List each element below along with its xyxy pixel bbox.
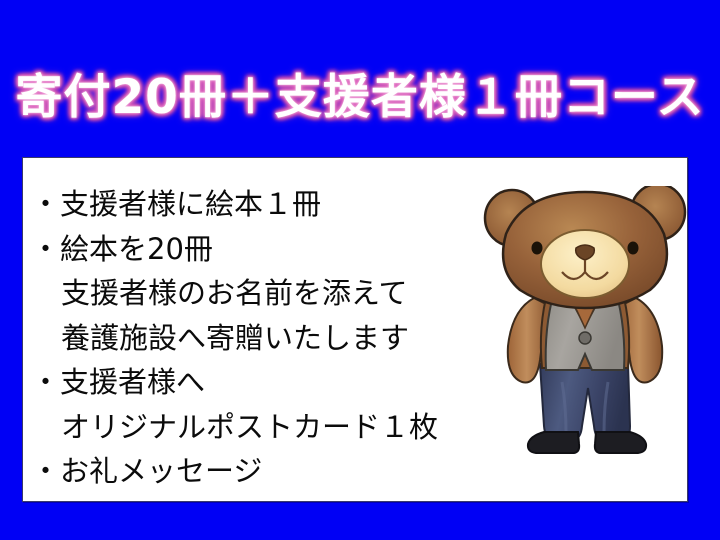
list-item: ・お礼メッセージ: [31, 449, 501, 494]
benefits-list: ・支援者様に絵本１冊 ・絵本を20冊 支援者様のお名前を添えて 養護施設へ寄贈い…: [31, 182, 501, 494]
list-item: オリジナルポストカード１枚: [31, 405, 501, 450]
teddy-bear-illustration: [478, 186, 693, 478]
bear-eye-left: [532, 242, 543, 255]
list-item: 養護施設へ寄贈いたします: [31, 316, 501, 361]
slide-canvas: 寄付20冊＋支援者様１冊コース ・支援者様に絵本１冊 ・絵本を20冊 支援者様の…: [0, 0, 720, 540]
vest-button: [579, 332, 591, 344]
list-item: 支援者様のお名前を添えて: [31, 271, 501, 316]
list-item: ・絵本を20冊: [31, 227, 501, 272]
list-item: ・支援者様に絵本１冊: [31, 182, 501, 227]
bear-eye-right: [628, 242, 639, 255]
bear-jeans: [540, 364, 630, 440]
list-item: ・支援者様へ: [31, 360, 501, 405]
content-panel: ・支援者様に絵本１冊 ・絵本を20冊 支援者様のお名前を添えて 養護施設へ寄贈い…: [22, 157, 688, 502]
page-title: 寄付20冊＋支援者様１冊コース: [0, 74, 720, 121]
bear-shoes: [528, 432, 646, 453]
